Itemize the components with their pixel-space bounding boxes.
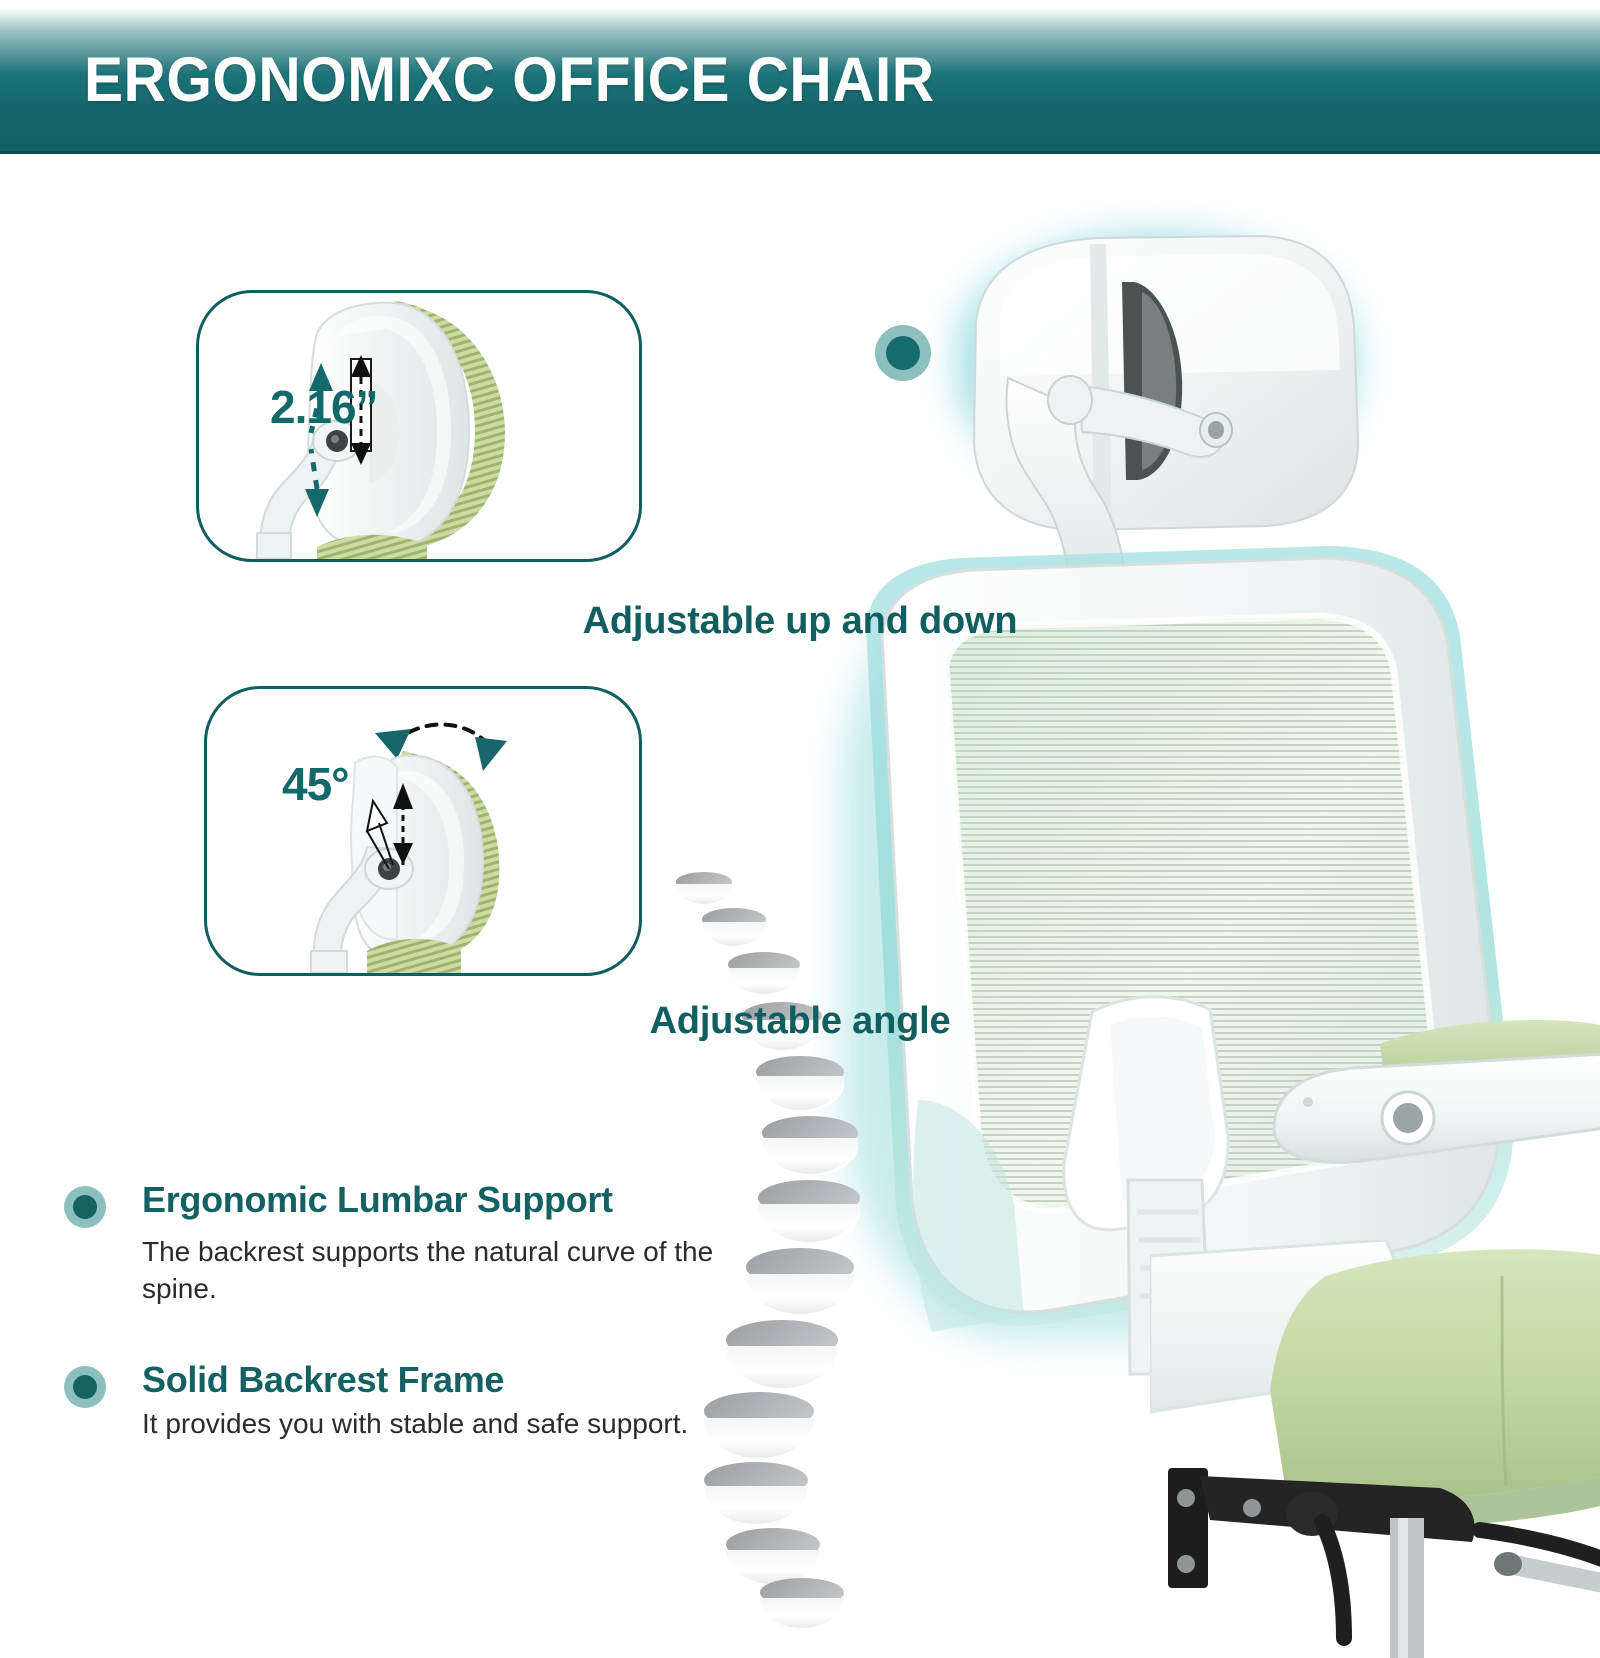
measure-label-height: 2.16”	[270, 380, 378, 434]
feature-title: Ergonomic Lumbar Support	[142, 1180, 744, 1220]
motion-puck	[746, 1248, 854, 1316]
feature-card-adjustable-angle	[204, 686, 642, 976]
feature-description: The backrest supports the natural curve …	[142, 1234, 742, 1308]
bullet-dot-icon	[64, 1186, 106, 1228]
headrest-up-down-diagram	[199, 293, 639, 559]
headrest-angle-diagram	[207, 689, 639, 973]
header-banner: ERGONOMIXC OFFICE CHAIR	[0, 8, 1600, 154]
motion-puck	[702, 908, 766, 948]
feature-card-adjustable-up-down	[196, 290, 642, 562]
page-title: ERGONOMIXC OFFICE CHAIR	[84, 44, 934, 116]
feature-solid-backrest-frame: Solid Backrest Frame It provides you wit…	[64, 1360, 744, 1443]
chair-product-illustration	[640, 180, 1600, 1600]
motion-puck	[762, 1116, 858, 1176]
card-label-adjustable-angle: Adjustable angle	[0, 1000, 1600, 1043]
armrest	[1250, 1010, 1600, 1240]
motion-puck	[704, 1462, 808, 1526]
motion-puck	[728, 952, 800, 996]
feature-title: Solid Backrest Frame	[142, 1360, 744, 1400]
motion-puck	[758, 1180, 860, 1244]
motion-puck	[756, 1056, 844, 1112]
bullet-dot-icon	[64, 1366, 106, 1408]
teal-dot-marker	[872, 322, 934, 384]
seat-mechanism	[1140, 1458, 1600, 1658]
card-label-adjustable-up-down: Adjustable up and down	[0, 600, 1600, 643]
measure-label-angle: 45°	[282, 757, 349, 811]
motion-puck	[676, 872, 732, 906]
motion-puck	[760, 1578, 844, 1630]
feature-ergonomic-lumbar-support: Ergonomic Lumbar Support The backrest su…	[64, 1180, 744, 1308]
feature-description: It provides you with stable and safe sup…	[142, 1406, 744, 1443]
